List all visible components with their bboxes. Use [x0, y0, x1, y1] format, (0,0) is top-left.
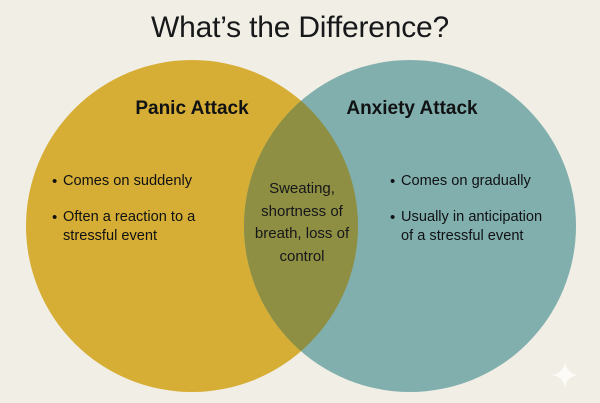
venn-right-heading: Anxiety Attack — [312, 98, 512, 120]
four-point-star-sparkle-icon — [551, 361, 579, 389]
bullet-dot-icon: • — [52, 172, 63, 191]
bullet-dot-icon: • — [390, 208, 401, 227]
venn-right-bullet-list: • Comes on gradually • Usually in antici… — [390, 172, 550, 246]
venn-left-bullet-list: • Comes on suddenly • Often a reaction t… — [52, 172, 220, 246]
list-item-label: Comes on gradually — [401, 172, 550, 191]
list-item: • Comes on gradually — [390, 172, 550, 191]
venn-left-heading: Panic Attack — [92, 98, 292, 120]
bullet-dot-icon: • — [52, 208, 63, 227]
list-item-label: Often a reaction to a stressful event — [63, 208, 220, 246]
list-item: • Usually in anticipation of a stressful… — [390, 208, 550, 246]
list-item: • Often a reaction to a stressful event — [52, 208, 220, 246]
list-item-label: Usually in anticipation of a stressful e… — [401, 208, 550, 246]
list-item-label: Comes on suddenly — [63, 172, 220, 191]
list-item: • Comes on suddenly — [52, 172, 220, 191]
bullet-dot-icon: • — [390, 172, 401, 191]
venn-overlap-text: Sweating, shortness of breath, loss of c… — [238, 178, 366, 268]
venn-diagram-slide: What’s the Difference? Panic Attack Anxi… — [0, 0, 600, 403]
